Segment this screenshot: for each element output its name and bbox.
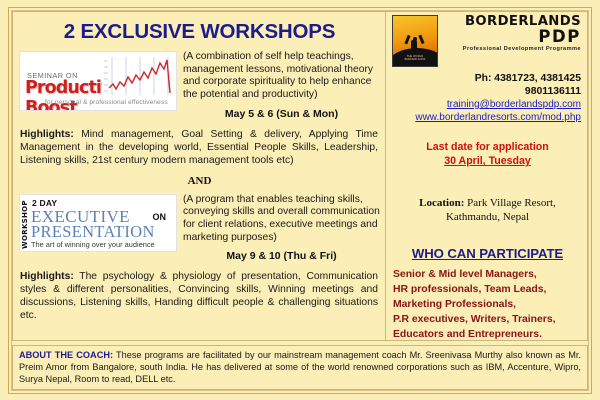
- list-item: Educators and Entrepreneurs.: [393, 328, 583, 343]
- productivity-boost-banner: SEMINAR ON Productivity Boost for person…: [19, 51, 177, 111]
- figure-arm-left: [404, 35, 410, 44]
- list-item: Senior & Mid level Managers,: [393, 268, 583, 283]
- workshops-column: 2 EXCLUSIVE WORKSHOPS SEMINAR ON Product…: [12, 11, 386, 341]
- page-title: 2 EXCLUSIVE WORKSHOPS: [19, 20, 380, 44]
- highlights-label: Highlights:: [20, 129, 74, 140]
- figure-arm-right: [418, 35, 424, 44]
- deadline-date: 30 April, Tuesday: [392, 154, 583, 168]
- email-link[interactable]: training@borderlandspdp.com: [392, 98, 583, 111]
- application-deadline: Last date for application 30 April, Tues…: [392, 140, 583, 169]
- highlights-text: Mind management, Goal Setting & delivery…: [20, 129, 378, 166]
- workshop-1-highlights: Highlights: Mind management, Goal Settin…: [20, 128, 378, 167]
- deadline-label: Last date for application: [392, 140, 583, 154]
- brand-tagline: Professional Development Programme: [444, 46, 581, 52]
- info-column: THE WORLD BORDERLANDS BORDERLANDS PDP Pr…: [386, 11, 588, 341]
- location-label: Location:: [419, 197, 464, 209]
- banner-tagline: for personal & professional effectivenes…: [45, 99, 168, 106]
- workshop-2-date: May 9 & 10 (Thu & Fri): [183, 250, 380, 263]
- phone-numbers: Ph: 4381723, 4381425 9801136111: [392, 72, 583, 98]
- banner-vertical-label: WORKSHOP: [21, 199, 29, 249]
- figure-head: [413, 37, 418, 42]
- brand-acronym: PDP: [444, 29, 581, 46]
- phone-line-1: Ph: 4381723, 4381425: [392, 72, 581, 85]
- flyer-page: 2 EXCLUSIVE WORKSHOPS SEMINAR ON Product…: [0, 0, 600, 400]
- location-value: Park Village Resort,: [464, 197, 555, 209]
- list-item: HR professionals, Team Leads,: [393, 283, 583, 298]
- phone-line-2: 9801136111: [392, 85, 581, 98]
- list-item: Marketing Professionals,: [393, 298, 583, 313]
- and-separator: AND: [19, 175, 380, 187]
- workshop-1: SEMINAR ON Productivity Boost for person…: [19, 51, 380, 121]
- mountain-summit-figure-icon: THE WORLD BORDERLANDS: [392, 15, 438, 67]
- brand-text: BORDERLANDS PDP Professional Development…: [438, 15, 583, 52]
- banner-tagline: The art of winning over your audience: [31, 240, 155, 249]
- workshop-2-highlights: Highlights: The psychology & physiology …: [20, 270, 378, 322]
- workshop-1-description: (A combination of self help teachings, m…: [183, 51, 380, 102]
- banner-on-label: ON: [153, 212, 167, 222]
- who-can-participate-list: Senior & Mid level Managers, HR professi…: [392, 268, 583, 342]
- figure-body: [411, 40, 417, 53]
- highlights-label: Highlights:: [20, 271, 74, 282]
- highlights-text: The psychology & physiology of presentat…: [20, 271, 378, 321]
- logo-caption: THE WORLD BORDERLANDS: [396, 55, 434, 62]
- about-the-coach: ABOUT THE COACH: These programs are faci…: [12, 345, 588, 390]
- flyer-content: 2 EXCLUSIVE WORKSHOPS SEMINAR ON Product…: [12, 11, 588, 390]
- executive-presentation-banner: WORKSHOP 2 DAY EXECUTIVE PRESENTATION ON…: [19, 194, 177, 252]
- location-line-2: Kathmandu, Nepal: [392, 210, 583, 224]
- main-columns: 2 EXCLUSIVE WORKSHOPS SEMINAR ON Product…: [12, 11, 588, 341]
- list-item: P.R executives, Writers, Trainers,: [393, 313, 583, 328]
- location-line-1: Location: Park Village Resort,: [392, 196, 583, 210]
- workshop-2-description-block: (A program that enables teaching skills,…: [177, 194, 380, 264]
- banner-title-line2: PRESENTATION: [31, 224, 155, 240]
- website-link[interactable]: www.borderlandresorts.com/mod.php: [392, 111, 583, 124]
- location-block: Location: Park Village Resort, Kathmandu…: [392, 196, 583, 225]
- line-chart-icon: [102, 55, 174, 97]
- who-can-participate-title: WHO CAN PARTICIPATE: [392, 246, 583, 261]
- workshop-1-date: May 5 & 6 (Sun & Mon): [183, 108, 380, 121]
- workshop-2-description: (A program that enables teaching skills,…: [183, 194, 380, 245]
- brand-header: THE WORLD BORDERLANDS BORDERLANDS PDP Pr…: [392, 15, 583, 67]
- workshop-1-description-block: (A combination of self help teachings, m…: [177, 51, 380, 121]
- about-the-coach-label: ABOUT THE COACH:: [19, 350, 113, 360]
- workshop-2: WORKSHOP 2 DAY EXECUTIVE PRESENTATION ON…: [19, 194, 380, 264]
